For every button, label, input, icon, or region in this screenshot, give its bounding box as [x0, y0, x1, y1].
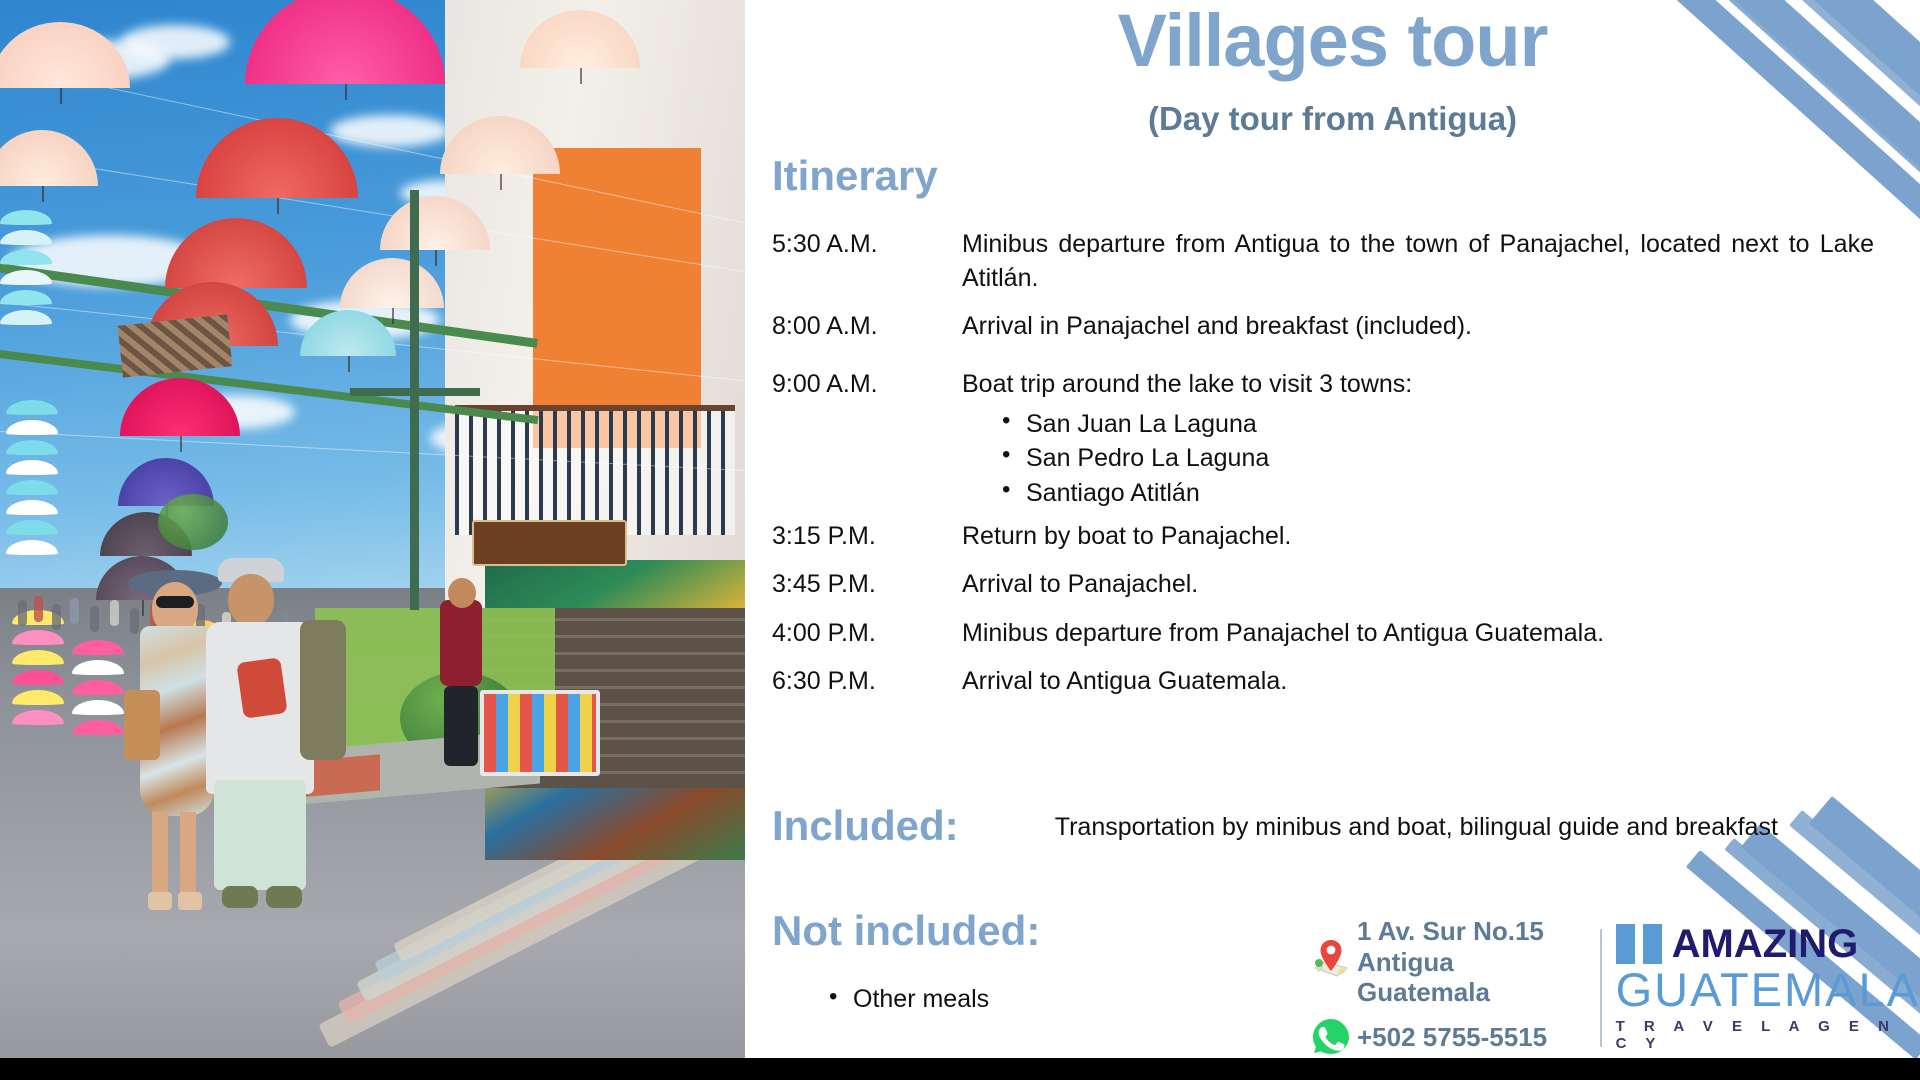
map-pin-icon-svg — [1311, 938, 1351, 986]
cloud — [120, 25, 230, 59]
itinerary-time: 9:00 A.M. — [772, 368, 962, 402]
sandal — [148, 892, 172, 910]
address-text: 1 Av. Sur No.15 Antigua Guatemala — [1357, 916, 1594, 1008]
logo-bar-icon — [1643, 924, 1662, 964]
person-red-hoodie — [440, 600, 482, 686]
footer-contact: 1 Av. Sur No.15 Antigua Guatemala +502 5… — [1305, 918, 1920, 1058]
list-item: San Juan La Laguna — [1000, 407, 1892, 441]
itinerary-row: 8:00 A.M. Arrival in Panajachel and brea… — [772, 310, 1892, 344]
itinerary-description: Arrival to Panajachel. — [962, 568, 1892, 602]
included-section: Included: Transportation by minibus and … — [772, 805, 1892, 847]
included-heading: Included: — [772, 805, 959, 847]
page-subtitle: (Day tour from Antigua) — [745, 100, 1920, 138]
list-item: San Pedro La Laguna — [1000, 441, 1892, 475]
itinerary-description: Boat trip around the lake to visit 3 tow… — [962, 368, 1892, 402]
itinerary-time: 6:30 P.M. — [772, 665, 962, 699]
logo-word-amazing: AMAZING — [1672, 924, 1859, 964]
footer-divider — [1600, 929, 1602, 1047]
itinerary-description: Arrival in Panajachel and breakfast (inc… — [962, 310, 1892, 344]
paper-decoration-column — [6, 400, 58, 560]
map-pin-icon — [1305, 938, 1357, 986]
itinerary-description-block: Boat trip around the lake to visit 3 tow… — [962, 368, 1892, 510]
itinerary-row: 5:30 A.M. Minibus departure from Antigua… — [772, 228, 1892, 295]
sandal — [178, 892, 202, 910]
whatsapp-icon — [1305, 1014, 1357, 1058]
not-included-list: Other meals — [825, 985, 989, 1014]
shoe — [266, 886, 302, 908]
shorts — [214, 780, 306, 890]
logo-bar-icon — [1616, 924, 1635, 964]
person-head — [448, 578, 476, 608]
gallery-sign — [472, 520, 627, 566]
address-line-1: 1 Av. Sur No.15 — [1357, 916, 1594, 947]
logo-top-row: AMAZING — [1616, 924, 1920, 964]
logo-word-guatemala: GUATEMALA — [1616, 966, 1920, 1015]
tour-photo — [0, 0, 745, 1058]
itinerary-row: 9:00 A.M. Boat trip around the lake to v… — [772, 368, 1892, 510]
itinerary-row: 6:30 P.M. Arrival to Antigua Guatemala. — [772, 665, 1892, 699]
utility-pole — [410, 190, 419, 610]
itinerary-time: 3:45 P.M. — [772, 568, 962, 602]
address-line-2: Antigua Guatemala — [1357, 947, 1594, 1008]
contact-block: 1 Av. Sur No.15 Antigua Guatemala +502 5… — [1305, 916, 1594, 1058]
itinerary-time: 8:00 A.M. — [772, 310, 962, 344]
info-panel: Villages tour (Day tour from Antigua) It… — [745, 0, 1920, 1058]
itinerary-time: 4:00 P.M. — [772, 617, 962, 651]
itinerary-description: Arrival to Antigua Guatemala. — [962, 665, 1892, 699]
bottom-black-bar — [0, 1058, 1920, 1080]
shoe — [222, 886, 258, 908]
phone-row: +502 5755-5515 — [1305, 1014, 1594, 1058]
balcony-railing — [455, 405, 735, 535]
tree — [158, 494, 228, 550]
person-pants — [444, 686, 478, 766]
itinerary-time: 3:15 P.M. — [772, 520, 962, 554]
orange-wall — [533, 148, 701, 448]
itinerary-description: Return by boat to Panajachel. — [962, 520, 1892, 554]
handbag — [124, 690, 160, 760]
itinerary-row: 3:45 P.M. Arrival to Panajachel. — [772, 568, 1892, 602]
phone-text: +502 5755-5515 — [1357, 1022, 1547, 1053]
tshirt-graphic — [236, 657, 287, 719]
paper-decoration-column — [0, 210, 52, 330]
cloud — [330, 115, 450, 147]
backpack — [300, 620, 346, 760]
paper-decoration-column — [72, 640, 124, 740]
page-title: Villages tour — [745, 4, 1920, 78]
leg — [180, 812, 196, 894]
pole-crossbar — [350, 388, 480, 396]
logo-tagline: T R A V E L A G E N C Y — [1616, 1018, 1920, 1052]
address-row: 1 Av. Sur No.15 Antigua Guatemala — [1305, 916, 1594, 1008]
included-text: Transportation by minibus and boat, bili… — [959, 805, 1892, 844]
sunglasses — [156, 596, 194, 608]
vendor-cart — [480, 690, 600, 776]
towns-list: San Juan La Laguna San Pedro La Laguna S… — [1000, 407, 1892, 510]
itinerary-row: 4:00 P.M. Minibus departure from Panajac… — [772, 617, 1892, 651]
itinerary-description: Minibus departure from Panajachel to Ant… — [962, 617, 1892, 651]
flyer-page: Villages tour (Day tour from Antigua) It… — [0, 0, 1920, 1080]
itinerary-description: Minibus departure from Antigua to the to… — [962, 228, 1892, 295]
company-logo: AMAZING GUATEMALA T R A V E L A G E N C … — [1616, 924, 1920, 1052]
list-item: Other meals — [825, 985, 989, 1014]
list-item: Santiago Atitlán — [1000, 476, 1892, 510]
not-included-heading: Not included: — [772, 910, 1040, 952]
whatsapp-icon-svg — [1308, 1014, 1354, 1058]
itinerary-heading: Itinerary — [772, 155, 938, 197]
itinerary-list: 5:30 A.M. Minibus departure from Antigua… — [772, 228, 1892, 714]
itinerary-row: 3:15 P.M. Return by boat to Panajachel. — [772, 520, 1892, 554]
itinerary-time: 5:30 A.M. — [772, 228, 962, 262]
leg — [152, 812, 168, 894]
man-face — [228, 574, 274, 626]
